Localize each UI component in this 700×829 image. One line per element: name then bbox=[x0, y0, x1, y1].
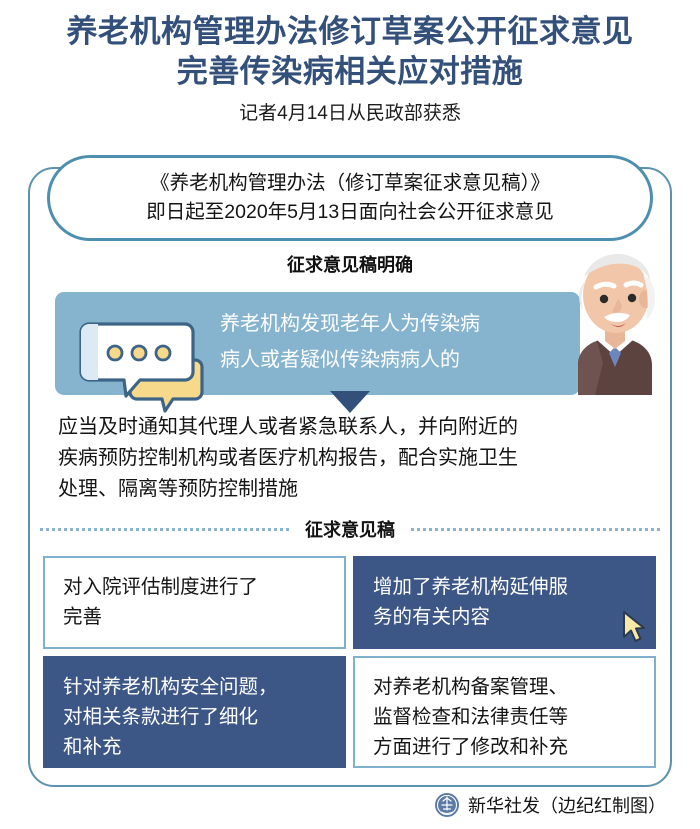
feature-box-1-line-1: 对入院评估制度进行了 bbox=[63, 572, 328, 602]
feature-box-3[interactable]: 针对养老机构安全问题， 对相关条款进行了细化 和补充 bbox=[43, 656, 346, 768]
banner-line-2: 病人或者疑似传染病病人的 bbox=[220, 342, 565, 378]
feature-boxes: 对入院评估制度进行了 完善 增加了养老机构延伸服 务的有关内容 针对养老机构安全… bbox=[43, 556, 657, 775]
section-divider: 征求意见稿 bbox=[40, 515, 660, 543]
footer-credit: 新华社发（边纪红制图） bbox=[468, 792, 666, 818]
feature-box-4-line-1: 对养老机构备案管理、 bbox=[373, 672, 638, 702]
feature-box-3-line-1: 针对养老机构安全问题， bbox=[63, 672, 328, 702]
feature-box-row-1: 对入院评估制度进行了 完善 增加了养老机构延伸服 务的有关内容 bbox=[43, 556, 657, 649]
highlight-banner: 养老机构发现老年人为传染病 病人或者疑似传染病病人的 bbox=[55, 292, 580, 395]
title-line-1: 养老机构管理办法修订草案公开征求意见 bbox=[0, 12, 700, 52]
page-title: 养老机构管理办法修订草案公开征求意见 完善传染病相关应对措施 记者4月14日从民… bbox=[0, 12, 700, 126]
feature-box-row-2: 针对养老机构安全问题， 对相关条款进行了细化 和补充 对养老机构备案管理、 监督… bbox=[43, 656, 657, 768]
elderly-man-illustration bbox=[548, 247, 660, 395]
divider-dots-right bbox=[411, 528, 660, 531]
divider-dots-left bbox=[40, 528, 289, 531]
paragraph-line-2: 疾病预防控制机构或者医疗机构报告，配合实施卫生 bbox=[58, 443, 648, 474]
page-subtitle: 记者4月14日从民政部获悉 bbox=[0, 101, 700, 126]
mouse-cursor-icon bbox=[621, 610, 647, 644]
down-arrow-icon bbox=[330, 391, 370, 413]
notice-line-1: 《养老机构管理办法（修订草案征求意见稿）》 bbox=[150, 169, 550, 198]
feature-box-3-line-2: 对相关条款进行了细化 bbox=[63, 702, 328, 732]
feature-box-4[interactable]: 对养老机构备案管理、 监督检查和法律责任等 方面进行了修改和补充 bbox=[353, 656, 656, 768]
banner-text: 养老机构发现老年人为传染病 病人或者疑似传染病病人的 bbox=[220, 306, 565, 378]
feature-box-4-line-3: 方面进行了修改和补充 bbox=[373, 732, 638, 762]
banner-line-1: 养老机构发现老年人为传染病 bbox=[220, 306, 565, 342]
feature-box-2-line-1: 增加了养老机构延伸服 bbox=[373, 572, 638, 602]
feature-box-1-line-2: 完善 bbox=[63, 602, 328, 632]
title-line-2: 完善传染病相关应对措施 bbox=[0, 52, 700, 92]
paragraph-line-3: 处理、隔离等预防控制措施 bbox=[58, 474, 648, 505]
body-paragraph: 应当及时通知其代理人或者紧急联系人，并向附近的 疾病预防控制机构或者医疗机构报告… bbox=[58, 412, 648, 505]
feature-box-2[interactable]: 增加了养老机构延伸服 务的有关内容 bbox=[353, 556, 656, 649]
notice-pill: 《养老机构管理办法（修订草案征求意见稿）》 即日起至2020年5月13日面向社会… bbox=[47, 155, 653, 241]
feature-box-4-line-2: 监督检查和法律责任等 bbox=[373, 702, 638, 732]
feature-box-1[interactable]: 对入院评估制度进行了 完善 bbox=[43, 556, 346, 649]
divider-label: 征求意见稿 bbox=[289, 516, 411, 542]
speech-bubbles-icon bbox=[75, 310, 215, 415]
footer: 新华社发（边纪红制图） bbox=[0, 792, 700, 818]
feature-box-3-line-3: 和补充 bbox=[63, 732, 328, 762]
paragraph-line-1: 应当及时通知其代理人或者紧急联系人，并向附近的 bbox=[58, 412, 648, 443]
feature-box-2-line-2: 务的有关内容 bbox=[373, 602, 638, 632]
notice-line-2: 即日起至2020年5月13日面向社会公开征求意见 bbox=[146, 198, 553, 227]
xinhua-logo-icon bbox=[434, 792, 460, 818]
